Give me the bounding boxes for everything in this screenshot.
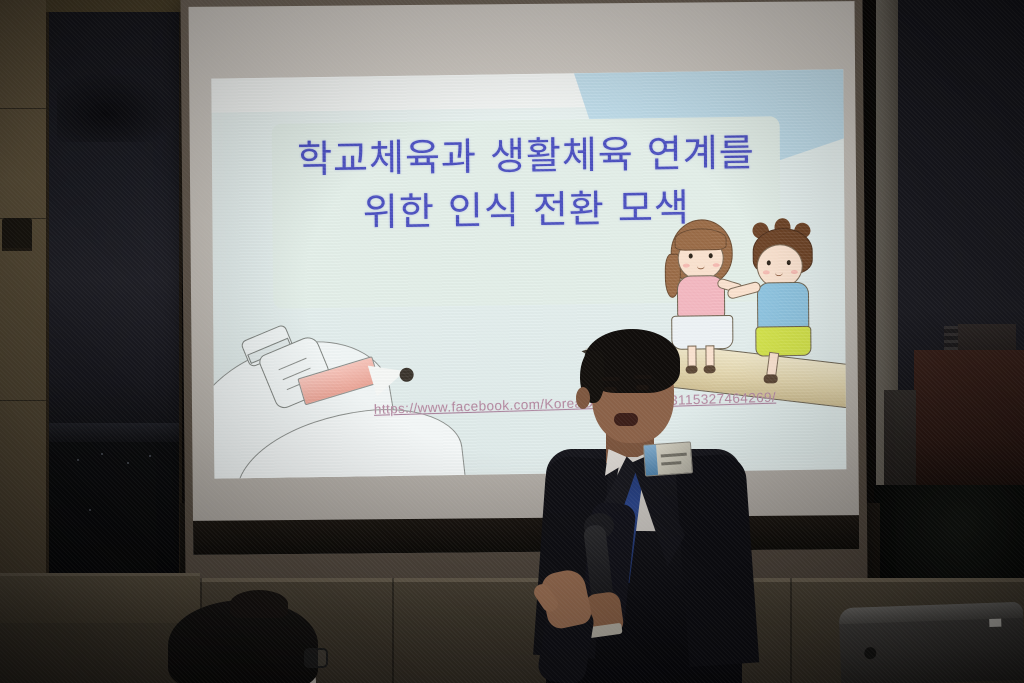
hand-with-pencil-illustration [211, 303, 474, 479]
audience-hair-tuft [230, 590, 288, 618]
speaker-shoulder-right [675, 453, 759, 667]
wall-ledge-object [2, 218, 32, 248]
audience-member [168, 600, 338, 683]
left-wall-panel [0, 0, 46, 600]
cartoon-boy [748, 227, 845, 378]
projection-screen-surface: 학교체육과 생활체육 연계를 위한 인식 전환 모색 [189, 1, 860, 555]
speaker-person [540, 325, 750, 683]
left-window [46, 12, 182, 607]
cloud [57, 72, 177, 142]
presentation-photo-scene: 학교체육과 생활체육 연계를 위한 인식 전환 모색 [0, 0, 1024, 683]
slide-title-line-1: 학교체육과 생활체육 연계를 [297, 131, 755, 182]
speaker-mouth [614, 413, 638, 426]
right-window [876, 0, 1024, 620]
podium-hole [864, 647, 876, 659]
audience-glasses [304, 648, 328, 668]
red-brick-building [914, 350, 1024, 500]
podium-lectern [839, 602, 1024, 683]
projected-slide: 학교체육과 생활체육 연계를 위한 인식 전환 모색 [211, 69, 846, 478]
screen-bottom-bar [193, 515, 859, 555]
podium-label [989, 619, 1001, 627]
speaker-ear [576, 387, 590, 409]
projection-screen-frame: 학교체육과 생활체육 연계를 위한 인식 전환 모색 [180, 0, 867, 589]
speaker-name-badge [643, 441, 693, 476]
